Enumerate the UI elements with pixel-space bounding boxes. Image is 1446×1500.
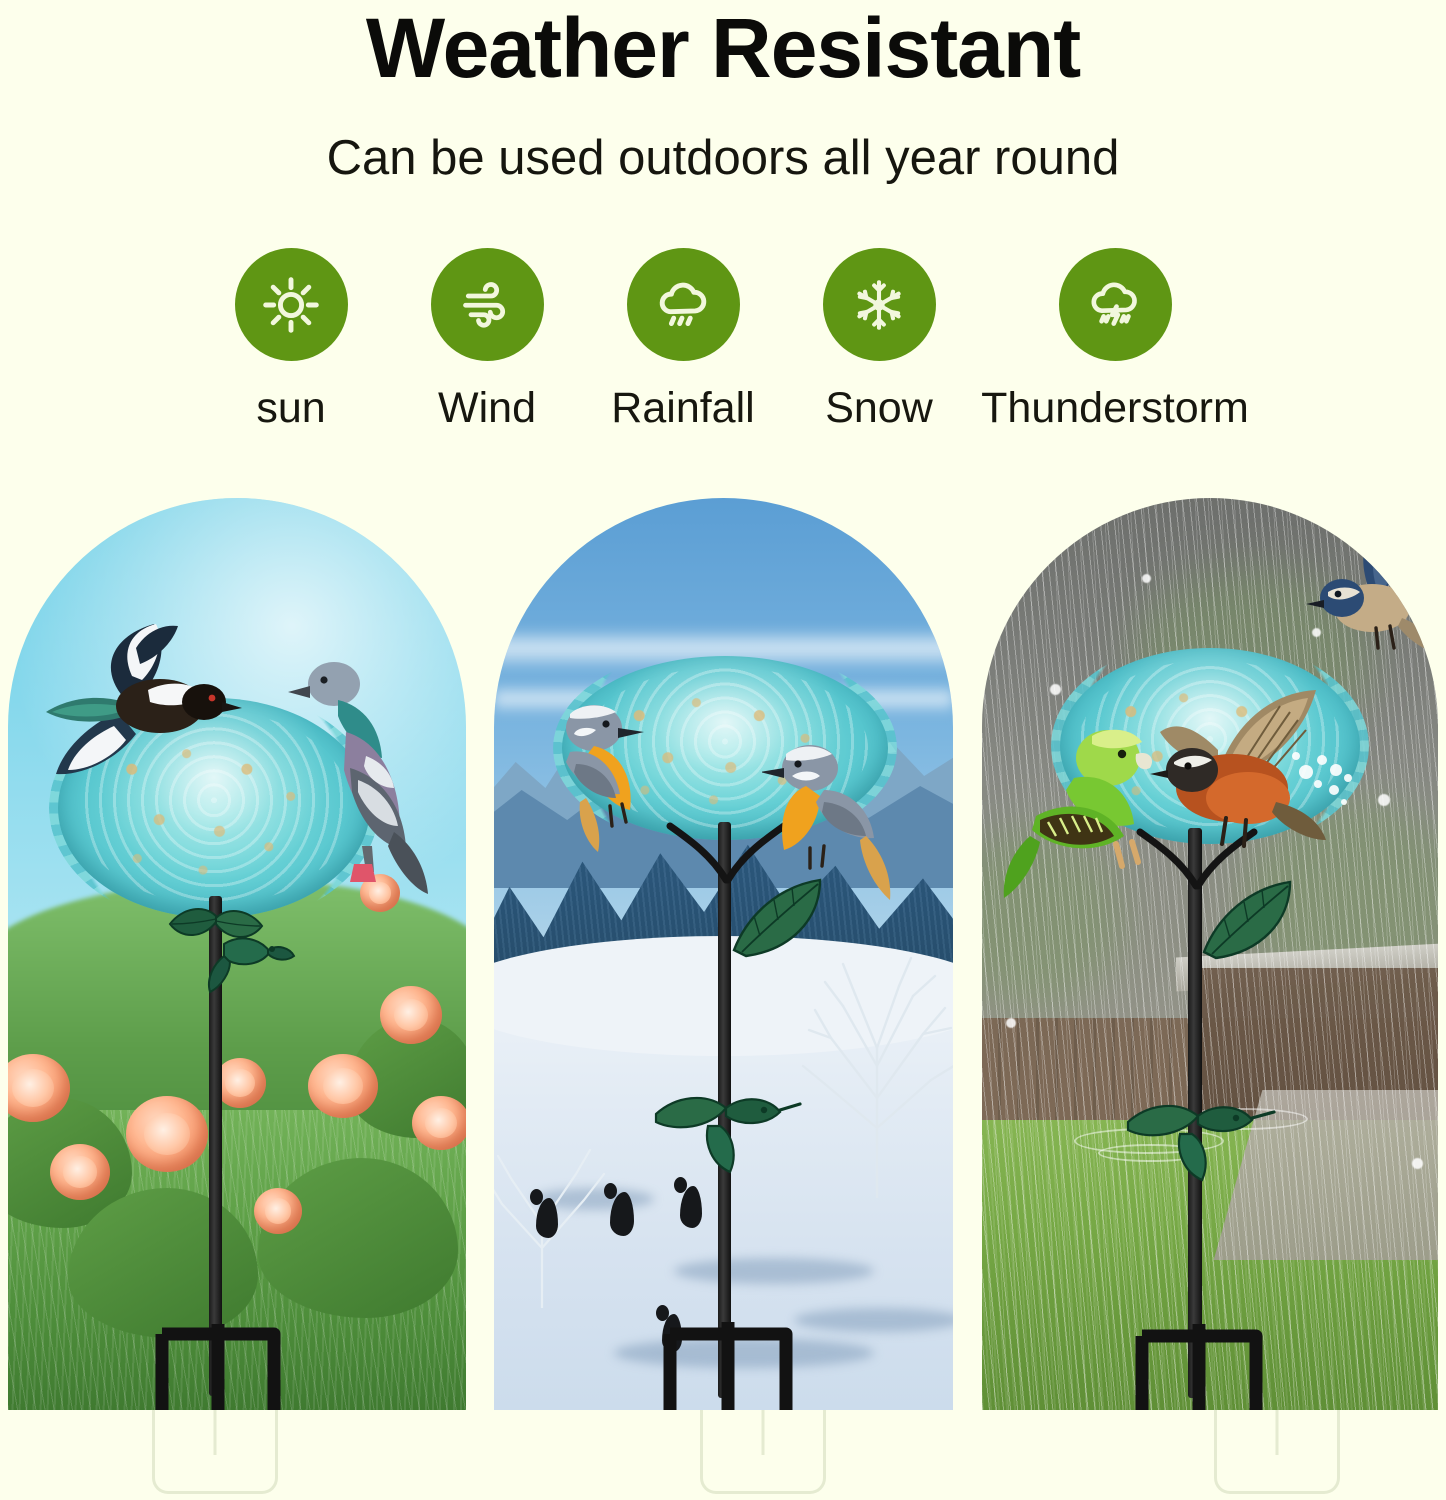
ground-stake-fork [1128,1324,1270,1410]
raindrop-splash [1050,684,1061,695]
ground-stake-fork [148,1324,288,1410]
redstart-perched-right [762,736,922,916]
page-title: Weather Resistant [0,0,1446,90]
snow-shadow [674,1258,874,1284]
swallow-bird-flying [1298,516,1438,676]
hummingbird-icon [1120,1074,1280,1186]
feature-item-rainfall: Rainfall [585,248,781,431]
feature-label-sun: sun [256,386,325,431]
snow-shadow [794,1308,953,1332]
raindrop-splash [1412,1158,1423,1169]
swallow-in-flight [1298,516,1438,676]
feature-circle-thunderstorm [1059,248,1172,361]
ghost-stake-panel-1 [152,1410,278,1494]
pigeon-bird [276,650,448,912]
raindrop-splash [1006,1018,1016,1028]
page-subtitle: Can be used outdoors all year round [0,90,1446,183]
feature-item-snow: Snow [781,248,977,431]
rose-bloom [380,986,442,1044]
ghost-stake-panel-2 [700,1410,826,1494]
thunderstorm-icon [1084,274,1146,336]
pigeon-perched [276,650,448,912]
hummingbird-icon [648,1068,808,1178]
redstart-bird-left [540,694,690,864]
rose-bloom [412,1096,466,1150]
raindrop-splash [1142,574,1151,583]
feature-circle-wind [431,248,544,361]
feature-item-thunderstorm: Thunderstorm [977,248,1253,431]
rose-bloom [50,1144,110,1200]
feature-label-rainfall: Rainfall [611,386,754,431]
rose-bloom [308,1054,378,1118]
rose-bloom [254,1188,302,1234]
robin-bathing [1130,676,1360,886]
magpie-in-flight [28,606,258,806]
ghost-stake-panel-3 [1214,1410,1340,1494]
stake-fork-icon [1128,1324,1270,1410]
product-scene-panels [0,498,1446,1413]
sun-icon [260,274,322,336]
crow-bird [536,1198,558,1238]
stake-fork-icon [656,1322,800,1410]
rainy-yard-panel [982,498,1438,1410]
hummingbird-icon [194,922,302,1008]
wind-icon [457,275,517,335]
snowy-mountain-panel [494,498,953,1410]
feature-label-wind: Wind [438,386,536,431]
hummingbird-decoration [194,922,302,1008]
header: Weather Resistant Can be used outdoors a… [0,0,1446,183]
redstart-bird-right [762,736,922,916]
feature-item-wind: Wind [389,248,585,431]
ground-stake-fork [656,1322,800,1410]
magpie-bird [28,606,258,806]
rain-cloud-icon [652,274,714,336]
feature-label-thunderstorm: Thunderstorm [981,386,1249,431]
raindrop-splash [1378,794,1390,806]
feature-circle-sun [235,248,348,361]
robin-bird-bathing [1130,676,1360,886]
stake-fork-icon [148,1324,288,1410]
feature-label-snow: Snow [825,386,933,431]
sunny-garden-panel [8,498,466,1410]
feature-item-sun: sun [193,248,389,431]
hummingbird-decoration [1120,1074,1280,1186]
rose-bloom [126,1096,208,1172]
weather-feature-row: sun Wind Rainfall [0,248,1446,431]
hummingbird-decoration [648,1068,808,1178]
redstart-perched-left [540,694,690,864]
feature-circle-rainfall [627,248,740,361]
snowflake-icon [850,276,908,334]
feature-circle-snow [823,248,936,361]
